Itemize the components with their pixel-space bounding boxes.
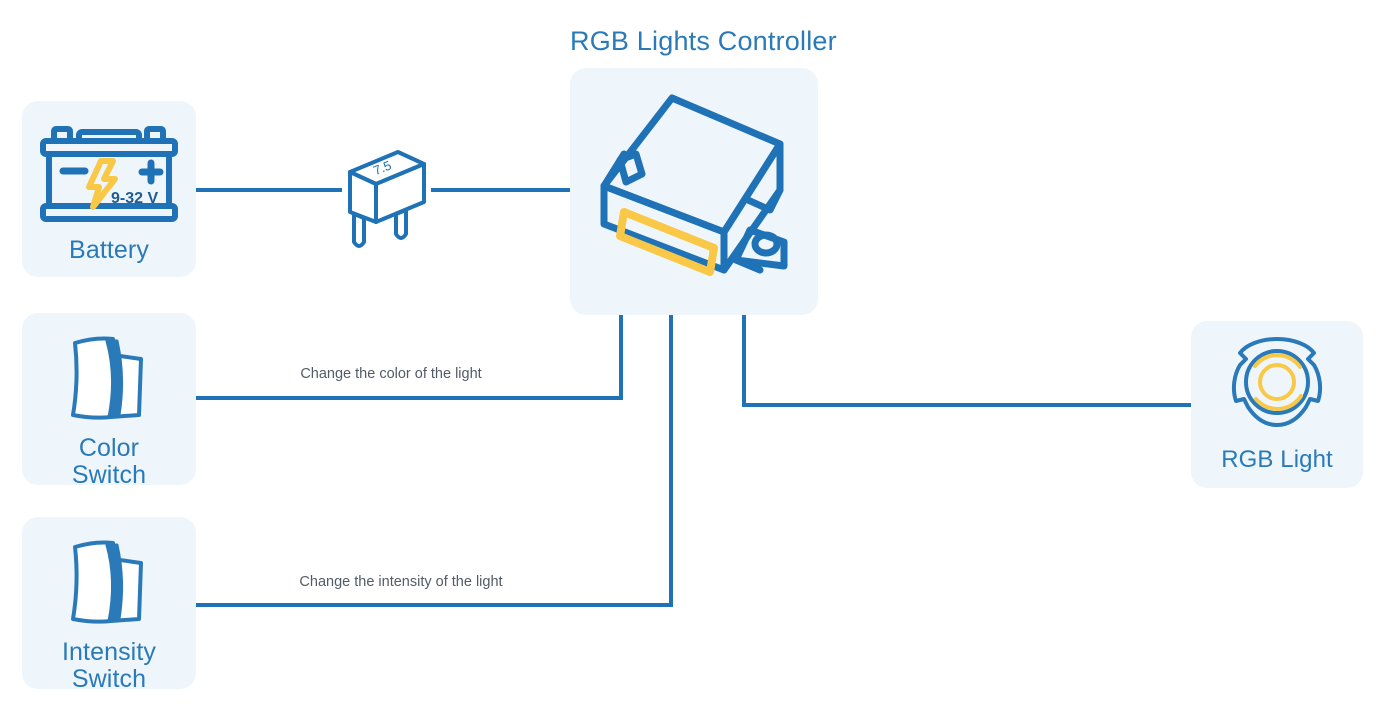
controller-module-icon <box>584 82 804 302</box>
node-color-switch[interactable]: Color Switch <box>22 313 196 485</box>
rocker-switch-icon <box>61 327 157 427</box>
battery-label: Battery <box>69 237 149 264</box>
rocker-switch-icon <box>61 531 157 631</box>
battery-icon: 9-32 V <box>39 119 179 231</box>
wire-controller-to-intensity-switch <box>196 313 671 605</box>
controller-title: RGB Lights Controller <box>570 26 818 57</box>
blade-fuse-icon: 7.5 <box>340 144 432 252</box>
intensity-wire-label: Change the intensity of the light <box>271 574 531 590</box>
color-switch-label: Color Switch <box>72 435 146 488</box>
rgb-light-icon <box>1222 333 1332 443</box>
node-controller[interactable] <box>570 68 818 315</box>
wire-controller-to-rgb-light <box>744 313 1191 405</box>
color-switch-label-line1: Color <box>72 435 146 462</box>
color-switch-label-line2: Switch <box>72 462 146 489</box>
node-fuse[interactable]: 7.5 <box>340 144 432 252</box>
node-battery[interactable]: 9-32 V Battery <box>22 101 196 277</box>
node-rgb-light[interactable]: RGB Light <box>1191 321 1363 488</box>
color-wire-label: Change the color of the light <box>276 366 506 382</box>
node-intensity-switch[interactable]: Intensity Switch <box>22 517 196 689</box>
intensity-switch-label: Intensity Switch <box>62 639 156 692</box>
wire-controller-to-color-switch <box>196 313 621 398</box>
intensity-switch-label-line1: Intensity <box>62 639 156 666</box>
wiring-diagram: RGB Lights Controller <box>0 0 1392 717</box>
intensity-switch-label-line2: Switch <box>62 666 156 693</box>
battery-voltage-text: 9-32 V <box>111 190 158 207</box>
rgb-light-label: RGB Light <box>1221 447 1333 472</box>
